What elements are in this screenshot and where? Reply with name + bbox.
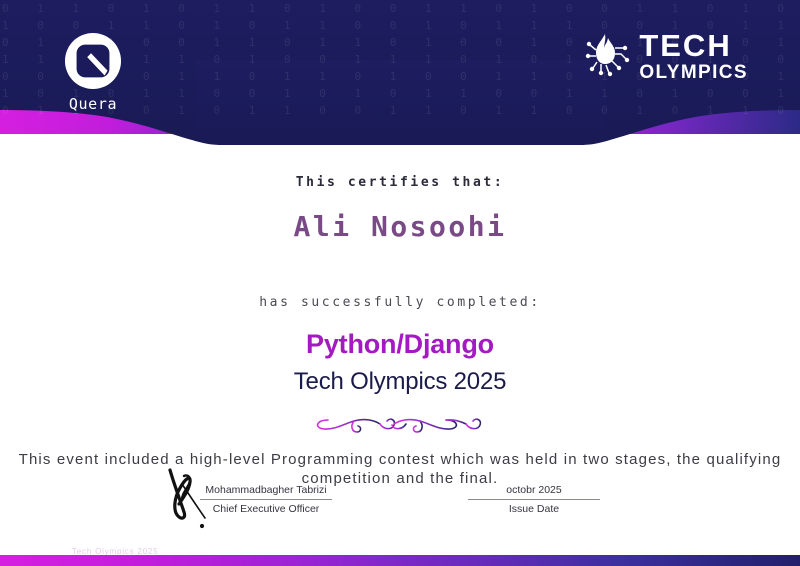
signatory-title: Chief Executive Officer [200,500,332,515]
event-title: Tech Olympics 2025 [0,368,800,396]
signatory-block: Mohammadbagher Tabrizi Chief Executive O… [200,484,332,515]
completed-line: has successfully completed: [0,295,800,310]
issue-date-label: Issue Date [468,500,600,515]
issue-date-value: octobr 2025 [468,484,600,499]
bottom-gradient-bar [0,555,800,566]
tech-olympics-line1: TECH [639,30,748,61]
tech-olympics-logo: TECH OLYMPICS [581,30,748,82]
quera-q-mark-icon [64,32,122,90]
quera-wordmark: Quera [58,95,128,113]
flame-circuit-icon [581,30,633,82]
tech-olympics-wordmark: TECH OLYMPICS [639,30,748,82]
certificate-header: 0 1 1 0 1 0 1 1 0 1 0 0 1 1 0 1 0 0 1 1 … [0,0,800,145]
certificate-body: This certifies that: Ali Nosoohi has suc… [0,150,800,488]
signatory-name: Mohammadbagher Tabrizi [200,484,332,499]
recipient-name: Ali Nosoohi [0,210,800,243]
quera-logo: Quera [58,32,128,113]
decorative-flourish-icon [310,408,490,440]
certifies-line: This certifies that: [0,175,800,190]
certificate-page: 0 1 1 0 1 0 1 1 0 1 0 0 1 1 0 1 0 0 1 1 … [0,0,800,566]
tech-olympics-line2: OLYMPICS [639,63,748,82]
signature-row: Mohammadbagher Tabrizi Chief Executive O… [0,480,800,540]
course-title: Python/Django [0,329,800,360]
issue-date-block: octobr 2025 Issue Date [468,484,600,515]
